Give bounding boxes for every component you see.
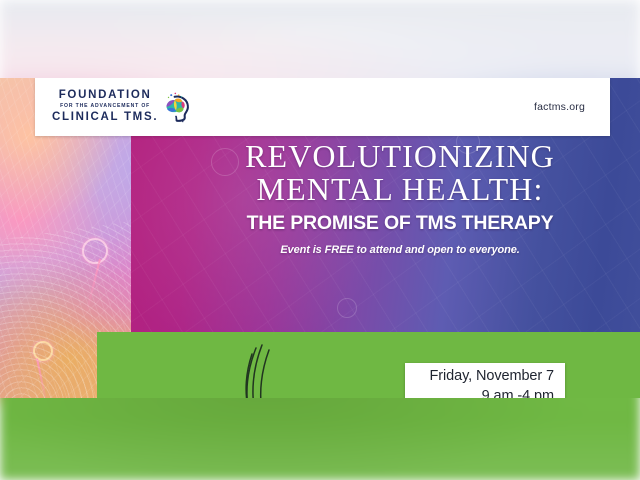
event-day: Friday, November 7 bbox=[430, 367, 554, 387]
event-flyer: FOUNDATION FOR THE ADVANCEMENT OF CLINIC… bbox=[0, 0, 640, 480]
headline-line-1: REVOLUTIONIZING bbox=[200, 140, 600, 173]
logo-line-3: CLINICAL TMS. bbox=[52, 112, 158, 124]
logo-header-bar: FOUNDATION FOR THE ADVANCEMENT OF CLINIC… bbox=[35, 78, 610, 136]
organization-logo: FOUNDATION FOR THE ADVANCEMENT OF CLINIC… bbox=[52, 90, 193, 124]
subheadline: THE PROMISE OF TMS THERAPY bbox=[200, 212, 600, 235]
logo-wordmark: FOUNDATION FOR THE ADVANCEMENT OF CLINIC… bbox=[52, 90, 158, 123]
logo-line-1: FOUNDATION bbox=[59, 90, 152, 102]
headline-block: REVOLUTIONIZING MENTAL HEALTH: THE PROMI… bbox=[200, 140, 600, 256]
website-url[interactable]: factms.org bbox=[534, 101, 585, 113]
neuron-ring-icon bbox=[337, 298, 357, 318]
brain-filament bbox=[36, 358, 48, 398]
brain-node-icon bbox=[82, 238, 108, 264]
logo-line-2: FOR THE ADVANCEMENT OF bbox=[60, 104, 150, 109]
brain-node-icon bbox=[33, 341, 53, 361]
headline-line-2: MENTAL HEALTH: bbox=[200, 173, 600, 206]
brain-head-logo-icon bbox=[159, 90, 193, 124]
brain-filament bbox=[85, 259, 101, 316]
event-date-box: Friday, November 7 9 am -4 pm bbox=[405, 363, 565, 398]
flyer-card: FOUNDATION FOR THE ADVANCEMENT OF CLINIC… bbox=[0, 78, 640, 398]
tagline: Event is FREE to attend and open to ever… bbox=[200, 244, 600, 256]
event-time: 9 am -4 pm bbox=[482, 387, 554, 398]
